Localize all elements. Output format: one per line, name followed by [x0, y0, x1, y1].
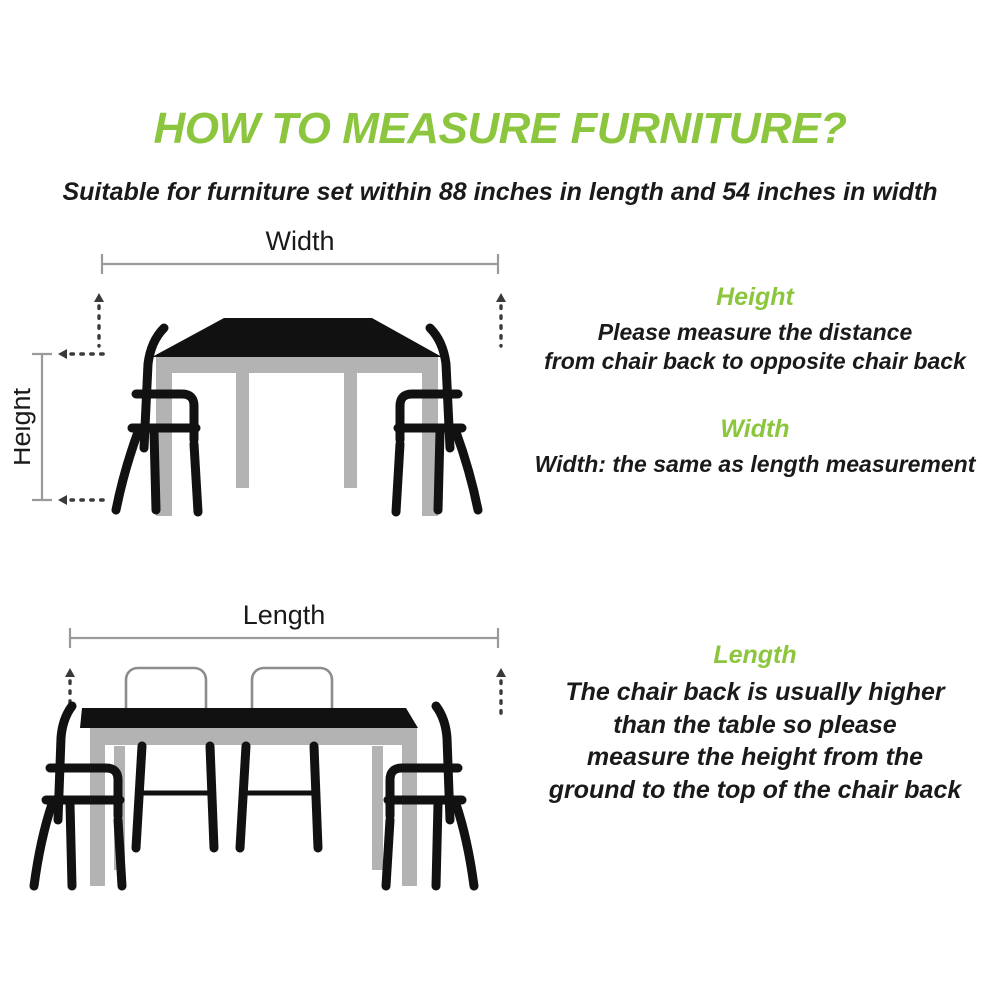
furniture-group-top: [116, 318, 478, 516]
length-label: Length: [243, 600, 326, 630]
infographic-page: HOW TO MEASURE FURNITURE? Suitable for f…: [0, 0, 1000, 1000]
panel-height-heading: Height: [520, 282, 990, 312]
furniture-group-bottom: [34, 668, 474, 886]
page-title: HOW TO MEASURE FURNITURE?: [0, 104, 1000, 154]
panel-width-heading: Width: [520, 414, 990, 444]
panel-length-heading: Length: [520, 640, 990, 670]
panel-width-body: Width: the same as length measurement: [520, 450, 990, 479]
height-label: Height: [14, 387, 36, 466]
diagram-width-height: Width Height: [14, 228, 534, 524]
panel-length: Length The chair back is usually higher …: [520, 640, 990, 806]
panel-height-body: Please measure the distance from chair b…: [520, 318, 990, 377]
length-dimension-line: [70, 628, 498, 648]
width-extension-right: [496, 293, 506, 346]
width-dimension-line: [102, 254, 498, 274]
panel-height: Height Please measure the distance from …: [520, 282, 990, 377]
height-leader-top: [58, 349, 104, 359]
height-leader-bottom: [58, 495, 104, 505]
inner-chair-legs: [136, 746, 318, 848]
page-subtitle: Suitable for furniture set within 88 inc…: [0, 178, 1000, 207]
diagram-length: Length: [14, 588, 534, 904]
width-label: Width: [265, 228, 334, 256]
length-extension-right: [496, 668, 506, 716]
width-extension-left: [94, 293, 104, 346]
panel-length-body: The chair back is usually higher than th…: [520, 676, 990, 806]
panel-width: Width Width: the same as length measurem…: [520, 414, 990, 479]
